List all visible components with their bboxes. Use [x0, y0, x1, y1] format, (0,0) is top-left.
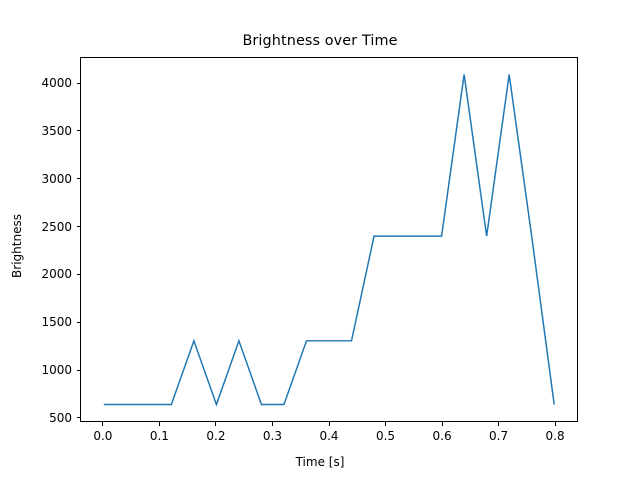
y-tick-label: 500 [0, 411, 72, 425]
y-tick-label: 3000 [0, 172, 72, 186]
plot-svg [81, 58, 577, 421]
x-tick-label: 0.1 [150, 429, 169, 443]
y-tick-label: 2000 [0, 267, 72, 281]
x-tick-label: 0.4 [319, 429, 338, 443]
x-tick-label: 0.3 [263, 429, 282, 443]
y-tick-label: 2500 [0, 220, 72, 234]
plot-area [80, 57, 578, 422]
x-tick-mark [555, 422, 556, 426]
y-tick-label: 4000 [0, 76, 72, 90]
x-tick-mark [102, 422, 103, 426]
x-tick-label: 0.7 [489, 429, 508, 443]
x-tick-mark [159, 422, 160, 426]
x-tick-label: 0.6 [433, 429, 452, 443]
y-tick-label: 3500 [0, 124, 72, 138]
x-axis-label: Time [s] [0, 455, 640, 469]
x-tick-label: 0.8 [546, 429, 565, 443]
x-tick-label: 0.0 [93, 429, 112, 443]
data-line-brightness [104, 74, 554, 404]
chart-title: Brightness over Time [0, 33, 640, 49]
y-tick-label: 1000 [0, 363, 72, 377]
x-tick-mark [385, 422, 386, 426]
x-tick-mark [272, 422, 273, 426]
chart-figure: Brightness over Time Brightness Time [s]… [0, 0, 640, 480]
x-tick-mark [329, 422, 330, 426]
x-tick-mark [442, 422, 443, 426]
x-tick-mark [498, 422, 499, 426]
x-tick-label: 0.2 [206, 429, 225, 443]
x-tick-mark [215, 422, 216, 426]
x-tick-label: 0.5 [376, 429, 395, 443]
y-tick-label: 1500 [0, 315, 72, 329]
